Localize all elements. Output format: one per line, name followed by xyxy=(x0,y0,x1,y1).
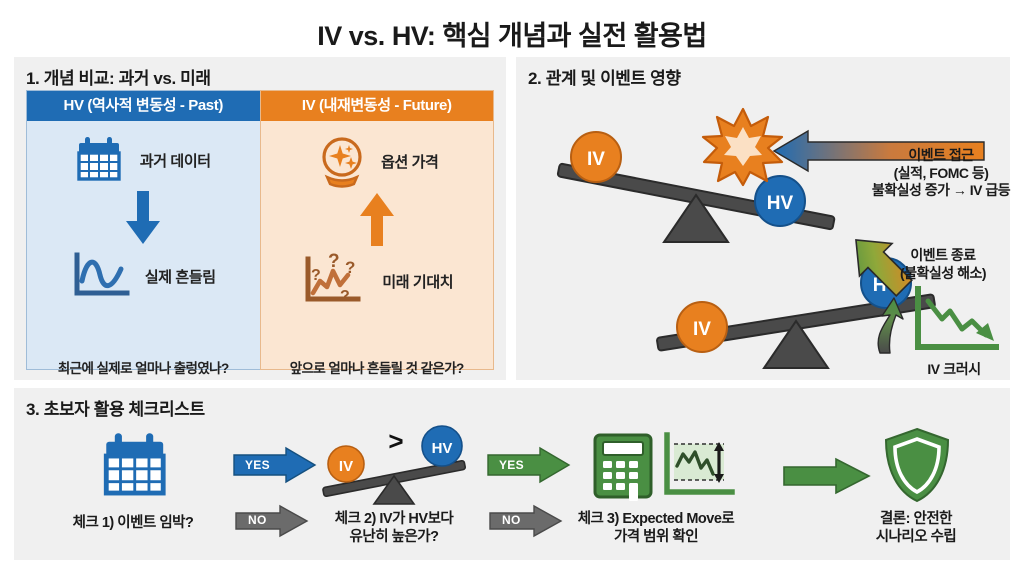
line-chart-icon xyxy=(71,251,133,301)
hv-column: HV (역사적 변동성 - Past) xyxy=(26,90,260,370)
checklist-step-4-caption-line-1: 결론: 안전한 xyxy=(826,510,1006,528)
note-event-approach-line-1: 이벤트 접근 xyxy=(866,147,1016,165)
iv-column: IV (내재변동성 - Future) 옵션 가격 xyxy=(260,90,495,370)
connector-no-1-label: NO xyxy=(248,513,267,527)
panel-concept-comparison: 1. 개념 비교: 과거 vs. 미래 HV (역사적 변동성 - Past) xyxy=(14,57,506,380)
hv-column-header: HV (역사적 변동성 - Past) xyxy=(27,91,260,121)
panel-relationship-events: 2. 관계 및 이벤트 영향 IV HV xyxy=(516,57,1010,380)
hv-rise-arrow-icon xyxy=(870,295,912,357)
checklist-step-3-caption: 체크 3) Expected Move로 가격 범위 확인 xyxy=(546,510,766,546)
svg-text:HV: HV xyxy=(767,193,794,214)
iv-up-arrow-icon xyxy=(261,193,494,249)
hv-footer-question: 최근에 실제로 얼마나 출렁였나? xyxy=(27,357,260,377)
panel3-body: 체크 1) 이벤트 임박? YES NO IV HV > xyxy=(14,418,1010,560)
hv-bottom-row: 실제 흔들림 xyxy=(27,251,260,301)
svg-text:?: ? xyxy=(345,258,355,277)
hv-top-row: 과거 데이터 xyxy=(27,135,260,185)
iv-column-header: IV (내재변동성 - Future) xyxy=(261,91,494,121)
panel1-heading: 1. 개념 비교: 과거 vs. 미래 xyxy=(14,57,506,94)
note-event-end-line-1: 이벤트 종료 xyxy=(868,247,1018,265)
checklist-step-4-caption: 결론: 안전한 시나리오 수립 xyxy=(826,510,1006,546)
svg-text:IV: IV xyxy=(693,319,711,340)
shield-icon xyxy=(882,426,952,504)
iv-top-row: 옵션 가격 xyxy=(261,135,494,187)
calculator-icon xyxy=(592,432,654,500)
seesaw-iv-gt-hv-icon: IV HV > xyxy=(314,426,474,506)
iv-column-body: 옵션 가격 ? ? xyxy=(261,135,494,385)
svg-text:IV: IV xyxy=(339,458,353,475)
svg-text:HV: HV xyxy=(432,440,453,457)
infographic-page: IV vs. HV: 핵심 개념과 실전 활용법 1. 개념 비교: 과거 vs… xyxy=(0,0,1024,578)
question-chart-icon: ? ? ? ? xyxy=(300,253,370,309)
iv-crush-label: IV 크러시 xyxy=(899,359,1009,379)
svg-text:?: ? xyxy=(340,288,350,305)
note-event-approach-line-3: 불확실성 증가 → IV 급등 xyxy=(866,182,1016,200)
hv-down-arrow-icon xyxy=(27,191,260,247)
connector-final-arrow-icon xyxy=(784,458,870,494)
expected-move-range-chart-icon xyxy=(660,432,738,502)
svg-text:>: > xyxy=(388,426,403,456)
svg-text:IV: IV xyxy=(587,149,605,170)
checklist-step-4-caption-line-2: 시나리오 수립 xyxy=(826,528,1006,546)
panel2-body: IV HV xyxy=(516,87,1010,380)
connector-no-2-label: NO xyxy=(502,513,521,527)
note-event-end-line-2: (불확실성 해소) xyxy=(868,265,1018,283)
svg-text:?: ? xyxy=(311,267,321,284)
svg-text:?: ? xyxy=(328,251,340,272)
note-event-approach-line-2: (실적, FOMC 등) xyxy=(866,165,1016,183)
note-event-approach: 이벤트 접근 (실적, FOMC 등) 불확실성 증가 → IV 급등 xyxy=(866,147,1016,200)
checklist-step-2-caption-line-1: 체크 2) IV가 HV보다 xyxy=(294,510,494,528)
connector-yes-1-label: YES xyxy=(245,458,270,472)
iv-top-label: 옵션 가격 xyxy=(381,151,438,172)
crystal-ball-icon xyxy=(315,135,369,187)
checklist-step-3-caption-line-2: 가격 범위 확인 xyxy=(546,528,766,546)
page-title: IV vs. HV: 핵심 개념과 실전 활용법 xyxy=(0,14,1024,53)
checklist-step-2-caption-line-2: 유난히 높은가? xyxy=(294,528,494,546)
iv-bottom-row: ? ? ? ? 미래 기대치 xyxy=(261,253,494,309)
hv-bottom-label: 실제 흔들림 xyxy=(145,266,216,287)
checklist-step-1-caption: 체크 1) 이벤트 임박? xyxy=(38,514,228,532)
note-event-end: 이벤트 종료 (불확실성 해소) xyxy=(868,247,1018,282)
iv-bottom-label: 미래 기대치 xyxy=(382,271,453,292)
panel-beginner-checklist: 3. 초보자 활용 체크리스트 체 xyxy=(14,388,1010,560)
checklist-step-2-caption: 체크 2) IV가 HV보다 유난히 높은가? xyxy=(294,510,494,546)
calendar-icon xyxy=(102,430,176,502)
iv-footer-question: 앞으로 얼마나 흔들릴 것 같은가? xyxy=(261,357,494,377)
hv-column-body: 과거 데이터 실제 흔 xyxy=(27,135,260,385)
checklist-step-3-caption-line-1: 체크 3) Expected Move로 xyxy=(546,510,766,528)
comparison-columns: HV (역사적 변동성 - Past) xyxy=(26,90,494,370)
connector-yes-2-label: YES xyxy=(499,458,524,472)
hv-top-label: 과거 데이터 xyxy=(140,150,211,171)
iv-crush-chart-icon xyxy=(910,285,1006,361)
calendar-icon xyxy=(76,135,128,185)
